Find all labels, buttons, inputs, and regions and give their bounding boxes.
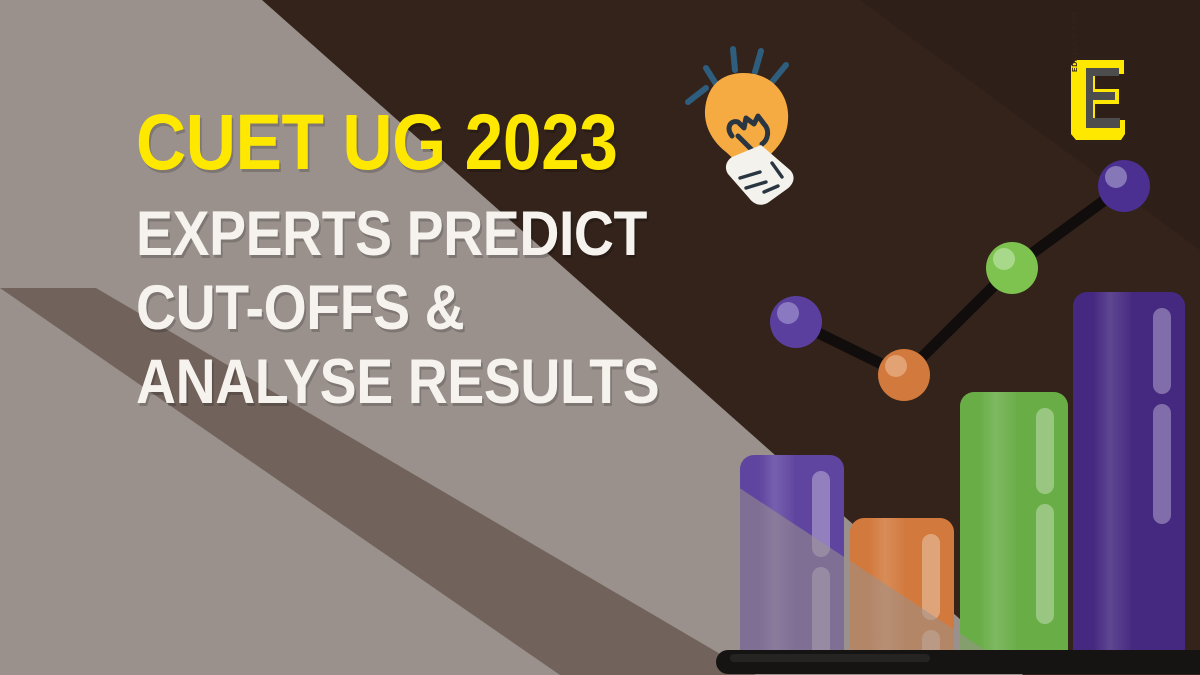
trend-point-2 [878,349,930,401]
trend-point-3 [986,242,1038,294]
page-title: CUET UG 2023 [136,104,682,179]
logo-wordmark: EDEXLIVE.COM [1072,12,1079,72]
trend-point-4 [1098,160,1150,212]
thumbnail-canvas: EDEXLIVE.COM CUET UG 2023 EXPERTS PREDIC… [0,0,1200,675]
trend-point-1 [770,296,822,348]
headline-line-3: CUT-OFFS & [136,279,682,339]
headline-block: CUET UG 2023 EXPERTS PREDICT CUT-OFFS & … [136,104,756,427]
edexlive-logo[interactable]: EDEXLIVE.COM [1069,56,1131,144]
trend-line-path [796,186,1124,375]
headline-line-4: ANALYSE RESULTS [136,353,682,413]
headline-line-2: EXPERTS PREDICT [136,205,682,265]
